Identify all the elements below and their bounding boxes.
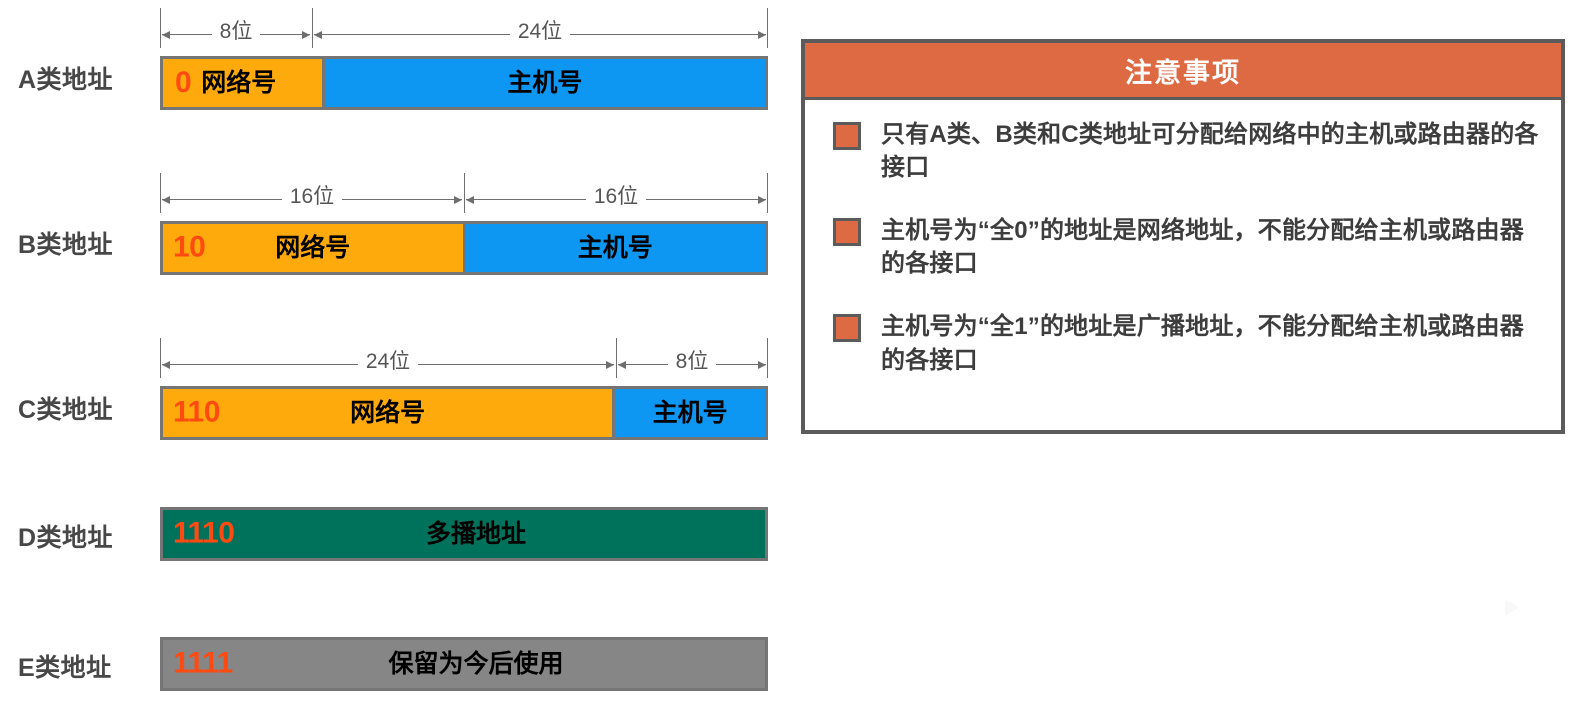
address-field-label: 主机号 — [653, 401, 728, 426]
address-field-label: 网络号 — [350, 401, 425, 426]
address-field-label: 多播地址 — [426, 522, 526, 547]
bit-width-segment: 8位 — [616, 338, 768, 378]
address-format-bar: 0网络号主机号 — [160, 56, 768, 110]
note-text: 主机号为“全0”的地址是网络地址，不能分配给主机或路由器的各接口 — [881, 214, 1541, 280]
bit-width-segment: 16位 — [160, 173, 464, 213]
note-list-item: 只有A类、B类和C类地址可分配给网络中的主机或路由器的各接口 — [833, 118, 1541, 184]
address-field-label: 保留为今后使用 — [388, 652, 563, 677]
note-list-item: 主机号为“全1”的地址是广播地址，不能分配给主机或路由器的各接口 — [833, 310, 1541, 376]
notes-panel: 注意事项 只有A类、B类和C类地址可分配给网络中的主机或路由器的各接口主机号为“… — [801, 39, 1565, 434]
bit-width-segment: 24位 — [312, 8, 768, 48]
address-class-label: B类地址 — [18, 225, 152, 261]
address-bit-prefix: 10 — [173, 232, 205, 262]
bit-width-text: 16位 — [586, 186, 646, 207]
address-field-host: 主机号 — [322, 59, 765, 107]
address-bit-prefix: 0 — [175, 68, 191, 98]
tv-play-icon — [1480, 578, 1542, 628]
address-field-net: 0网络号 — [163, 59, 322, 107]
address-format-bar: 10网络号主机号 — [160, 221, 768, 275]
bit-width-text: 16位 — [282, 186, 342, 207]
bit-width-text: 8位 — [668, 351, 717, 372]
note-list-item: 主机号为“全0”的地址是网络地址，不能分配给主机或路由器的各接口 — [833, 214, 1541, 280]
address-format-bar: 110网络号主机号 — [160, 386, 768, 440]
bit-width-ruler: 16位16位 — [160, 173, 768, 213]
bit-width-segment: 24位 — [160, 338, 616, 378]
address-class-label: D类地址 — [18, 518, 152, 554]
address-class-label: E类地址 — [18, 648, 152, 684]
square-bullet-icon — [833, 218, 861, 246]
address-field-label: 网络号 — [201, 71, 276, 96]
note-text: 只有A类、B类和C类地址可分配给网络中的主机或路由器的各接口 — [881, 118, 1541, 184]
address-bit-prefix: 1111 — [173, 648, 233, 678]
bit-width-ruler: 8位24位 — [160, 8, 768, 48]
address-field-net: 110网络号 — [163, 389, 612, 437]
address-field-label: 主机号 — [578, 236, 653, 261]
address-bit-prefix: 110 — [173, 397, 220, 427]
notes-panel-header: 注意事项 — [805, 43, 1561, 100]
address-format-bar: 1111保留为今后使用 — [160, 637, 768, 691]
bit-width-ruler: 24位8位 — [160, 338, 768, 378]
address-field-label: 主机号 — [507, 71, 582, 96]
bit-width-text: 8位 — [212, 21, 261, 42]
bit-width-segment: 8位 — [160, 8, 312, 48]
address-class-label: C类地址 — [18, 390, 152, 426]
note-text: 主机号为“全1”的地址是广播地址，不能分配给主机或路由器的各接口 — [881, 310, 1541, 376]
ip-address-class-diagram: A类地址8位24位0网络号主机号B类地址16位16位10网络号主机号C类地址24… — [0, 0, 790, 714]
address-bit-prefix: 1110 — [173, 518, 234, 548]
notes-panel-body: 只有A类、B类和C类地址可分配给网络中的主机或路由器的各接口主机号为“全0”的地… — [805, 100, 1561, 377]
address-field-multi: 1110多播地址 — [163, 510, 765, 558]
address-field-host: 主机号 — [612, 389, 765, 437]
square-bullet-icon — [833, 122, 861, 150]
address-field-label: 网络号 — [275, 236, 350, 261]
notes-panel-title: 注意事项 — [1125, 51, 1241, 90]
square-bullet-icon — [833, 314, 861, 342]
bit-width-text: 24位 — [510, 21, 570, 42]
address-format-bar: 1110多播地址 — [160, 507, 768, 561]
address-class-label: A类地址 — [18, 60, 152, 96]
address-field-host: 主机号 — [463, 224, 766, 272]
address-field-net: 10网络号 — [163, 224, 463, 272]
bit-width-segment: 16位 — [464, 173, 768, 213]
address-field-resv: 1111保留为今后使用 — [163, 640, 765, 688]
bit-width-text: 24位 — [358, 351, 418, 372]
